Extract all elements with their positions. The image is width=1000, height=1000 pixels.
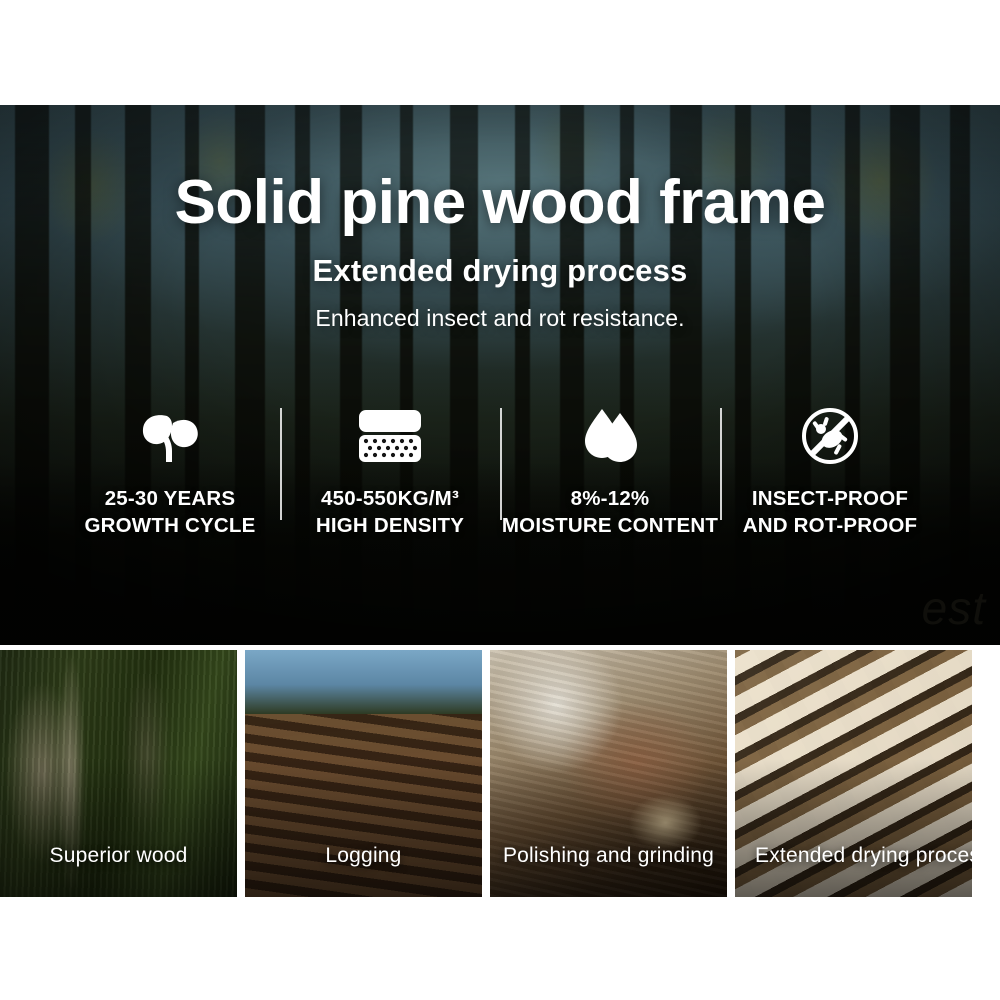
feature-moisture-content: 8%-12% MOISTURE CONTENT: [500, 400, 720, 539]
feature-label-line1: 450-550KG/M³: [321, 487, 459, 510]
feature-label-line2: AND ROT-PROOF: [720, 513, 940, 540]
feature-label: 8%-12% MOISTURE CONTENT: [500, 486, 720, 539]
photo-extended-drying-process: Extended drying proces: [735, 650, 972, 897]
density-layers-icon: [280, 400, 500, 472]
feature-label-line1: 8%-12%: [571, 487, 650, 510]
hero-subtitle: Extended drying process: [0, 253, 1000, 289]
feature-growth-cycle: 25-30 YEARS GROWTH CYCLE: [60, 400, 280, 539]
feature-label: INSECT-PROOF AND ROT-PROOF: [720, 486, 940, 539]
feature-high-density: 450-550KG/M³ HIGH DENSITY: [280, 400, 500, 539]
no-insect-icon: [720, 400, 940, 472]
infographic-page: est Solid pine wood frame Extended dryin…: [0, 0, 1000, 1000]
water-droplets-icon: [500, 400, 720, 472]
photo-caption: Extended drying proces: [735, 844, 972, 868]
photo-gradient-overlay: [245, 759, 482, 897]
hero-title: Solid pine wood frame: [0, 105, 1000, 235]
photo-polishing-and-grinding: Polishing and grinding: [490, 650, 727, 897]
feature-label-line2: HIGH DENSITY: [280, 513, 500, 540]
feature-label-line2: MOISTURE CONTENT: [500, 513, 720, 540]
hero-tagline: Enhanced insect and rot resistance.: [0, 305, 1000, 332]
process-photo-strip: Superior wood Logging Polishing and grin…: [0, 650, 1000, 897]
photo-gradient-overlay: [0, 759, 237, 897]
photo-gradient-overlay: [490, 759, 727, 897]
photo-caption: Logging: [245, 844, 482, 868]
feature-label-line2: GROWTH CYCLE: [60, 513, 280, 540]
feature-insect-proof: INSECT-PROOF AND ROT-PROOF: [720, 400, 940, 539]
hero-banner: est Solid pine wood frame Extended dryin…: [0, 105, 1000, 645]
feature-label-line1: 25-30 YEARS: [105, 487, 236, 510]
feature-label: 450-550KG/M³ HIGH DENSITY: [280, 486, 500, 539]
photo-logging: Logging: [245, 650, 482, 897]
hero-content: Solid pine wood frame Extended drying pr…: [0, 105, 1000, 645]
photo-caption: Polishing and grinding: [490, 844, 727, 868]
photo-caption: Superior wood: [0, 844, 237, 868]
photo-gradient-overlay: [735, 759, 972, 897]
feature-list: 25-30 YEARS GROWTH CYCLE: [60, 400, 940, 539]
feature-label-line1: INSECT-PROOF: [752, 487, 908, 510]
photo-superior-wood: Superior wood: [0, 650, 237, 897]
leaf-sprout-icon: [60, 400, 280, 472]
feature-label: 25-30 YEARS GROWTH CYCLE: [60, 486, 280, 539]
